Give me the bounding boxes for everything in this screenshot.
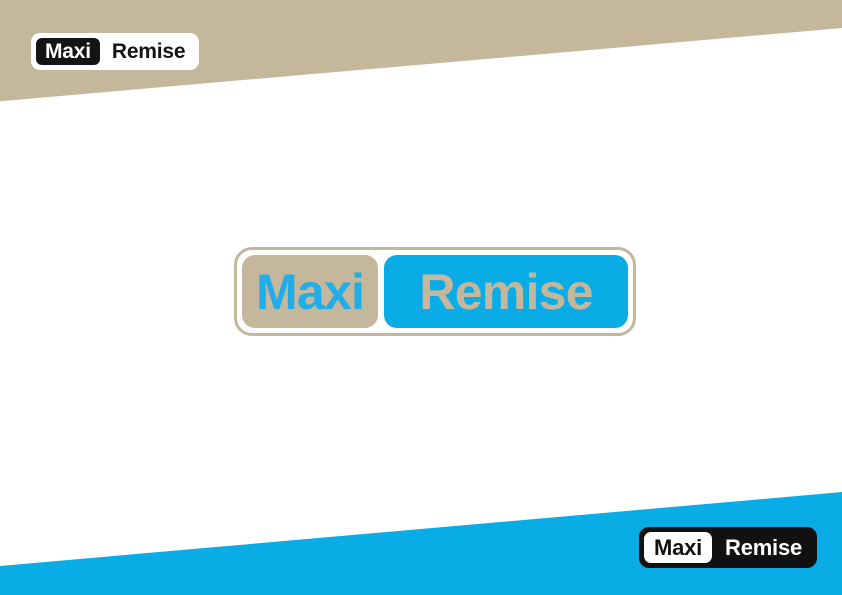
logo-pill-remise: Remise bbox=[384, 255, 628, 328]
presentation-canvas: Maxi Remise Maxi Remise Maxi Remise bbox=[0, 0, 842, 595]
logo-pill-remise: Remise bbox=[103, 38, 194, 65]
logo-pill-maxi: Maxi bbox=[644, 532, 712, 563]
logo-badge-bottom-right[interactable]: Maxi Remise bbox=[639, 527, 817, 568]
logo-badge-center-hero[interactable]: Maxi Remise bbox=[234, 247, 636, 336]
logo-badge-top-left[interactable]: Maxi Remise bbox=[31, 33, 199, 70]
logo-pill-maxi: Maxi bbox=[36, 38, 100, 65]
logo-pill-maxi: Maxi bbox=[242, 255, 378, 328]
logo-pill-remise: Remise bbox=[715, 532, 812, 563]
